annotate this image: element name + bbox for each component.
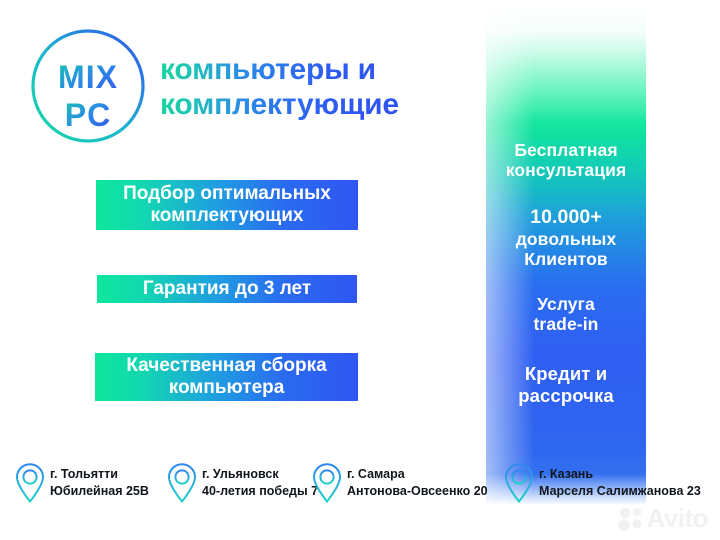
panel-item-line: рассрочка: [486, 385, 646, 407]
panel-item-line: Клиентов: [486, 249, 646, 269]
headline-line-2: комплектующие: [160, 87, 480, 122]
panel-item-line: Услуга: [486, 294, 646, 314]
location-pin-icon: [14, 462, 46, 504]
address-city: г. Казань: [539, 466, 701, 483]
panel-item-line: trade-in: [486, 314, 646, 334]
feature-banner-line: Гарантия до 3 лет: [143, 278, 311, 300]
side-panel-content: Бесплатная консультация 10.000+ довольны…: [486, 0, 646, 508]
address-text: г. Тольятти Юбилейная 25В: [50, 466, 149, 500]
address-item-kazan: г. Казань Марселя Салимжанова 23: [503, 462, 701, 504]
feature-banner-line: комплектующих: [123, 205, 331, 227]
address-item-samara: г. Самара Антонова-Овсеенко 20: [311, 462, 488, 504]
location-pin-icon: [503, 462, 535, 504]
address-city: г. Тольятти: [50, 466, 149, 483]
panel-item-line: консультация: [486, 160, 646, 180]
feature-banner-line: Качественная сборка: [126, 355, 326, 377]
poster-canvas: Бесплатная консультация 10.000+ довольны…: [0, 0, 720, 540]
location-pin-icon: [166, 462, 198, 504]
feature-banner-assembly: Качественная сборка компьютера: [95, 353, 358, 401]
panel-item-line: Бесплатная: [486, 140, 646, 160]
svg-text:MIX: MIX: [58, 59, 118, 95]
avito-logo-icon: [618, 507, 644, 531]
address-text: г. Ульяновск 40-летия победы 7: [202, 466, 318, 500]
panel-item-line: 10.000+: [486, 206, 646, 229]
address-text: г. Самара Антонова-Овсеенко 20: [347, 466, 488, 500]
address-street: Антонова-Овсеенко 20: [347, 483, 488, 500]
feature-banner-line: компьютера: [126, 377, 326, 399]
panel-item-line: довольных: [486, 229, 646, 249]
logo-circle-icon: MIX PC: [28, 26, 148, 146]
avito-watermark: Avito: [618, 503, 708, 534]
logo-mark: MIX PC: [28, 26, 148, 146]
address-item-tolyatti: г. Тольятти Юбилейная 25В: [14, 462, 149, 504]
feature-banner-components: Подбор оптимальных комплектующих: [96, 180, 358, 230]
address-city: г. Самара: [347, 466, 488, 483]
panel-item-credit: Кредит и рассрочка: [486, 363, 646, 406]
location-pin-icon: [311, 462, 343, 504]
feature-banner-warranty: Гарантия до 3 лет: [97, 275, 357, 303]
address-text: г. Казань Марселя Салимжанова 23: [539, 466, 701, 500]
address-item-ulyanovsk: г. Ульяновск 40-летия победы 7: [166, 462, 318, 504]
avito-watermark-label: Avito: [646, 503, 708, 534]
address-street: Марселя Салимжанова 23: [539, 483, 701, 500]
panel-item-free-consultation: Бесплатная консультация: [486, 140, 646, 181]
panel-item-clients-count: 10.000+ довольных Клиентов: [486, 206, 646, 270]
address-street: 40-летия победы 7: [202, 483, 318, 500]
headline-block: компьютеры и комплектующие: [160, 52, 480, 122]
feature-banner-line: Подбор оптимальных: [123, 183, 331, 205]
svg-text:PC: PC: [65, 97, 111, 133]
panel-item-line: Кредит и: [486, 363, 646, 385]
address-street: Юбилейная 25В: [50, 483, 149, 500]
address-row: г. Тольятти Юбилейная 25В г. Ульяновск 4…: [0, 462, 720, 512]
panel-item-trade-in: Услуга trade-in: [486, 294, 646, 335]
address-city: г. Ульяновск: [202, 466, 318, 483]
headline-line-1: компьютеры и: [160, 52, 480, 87]
